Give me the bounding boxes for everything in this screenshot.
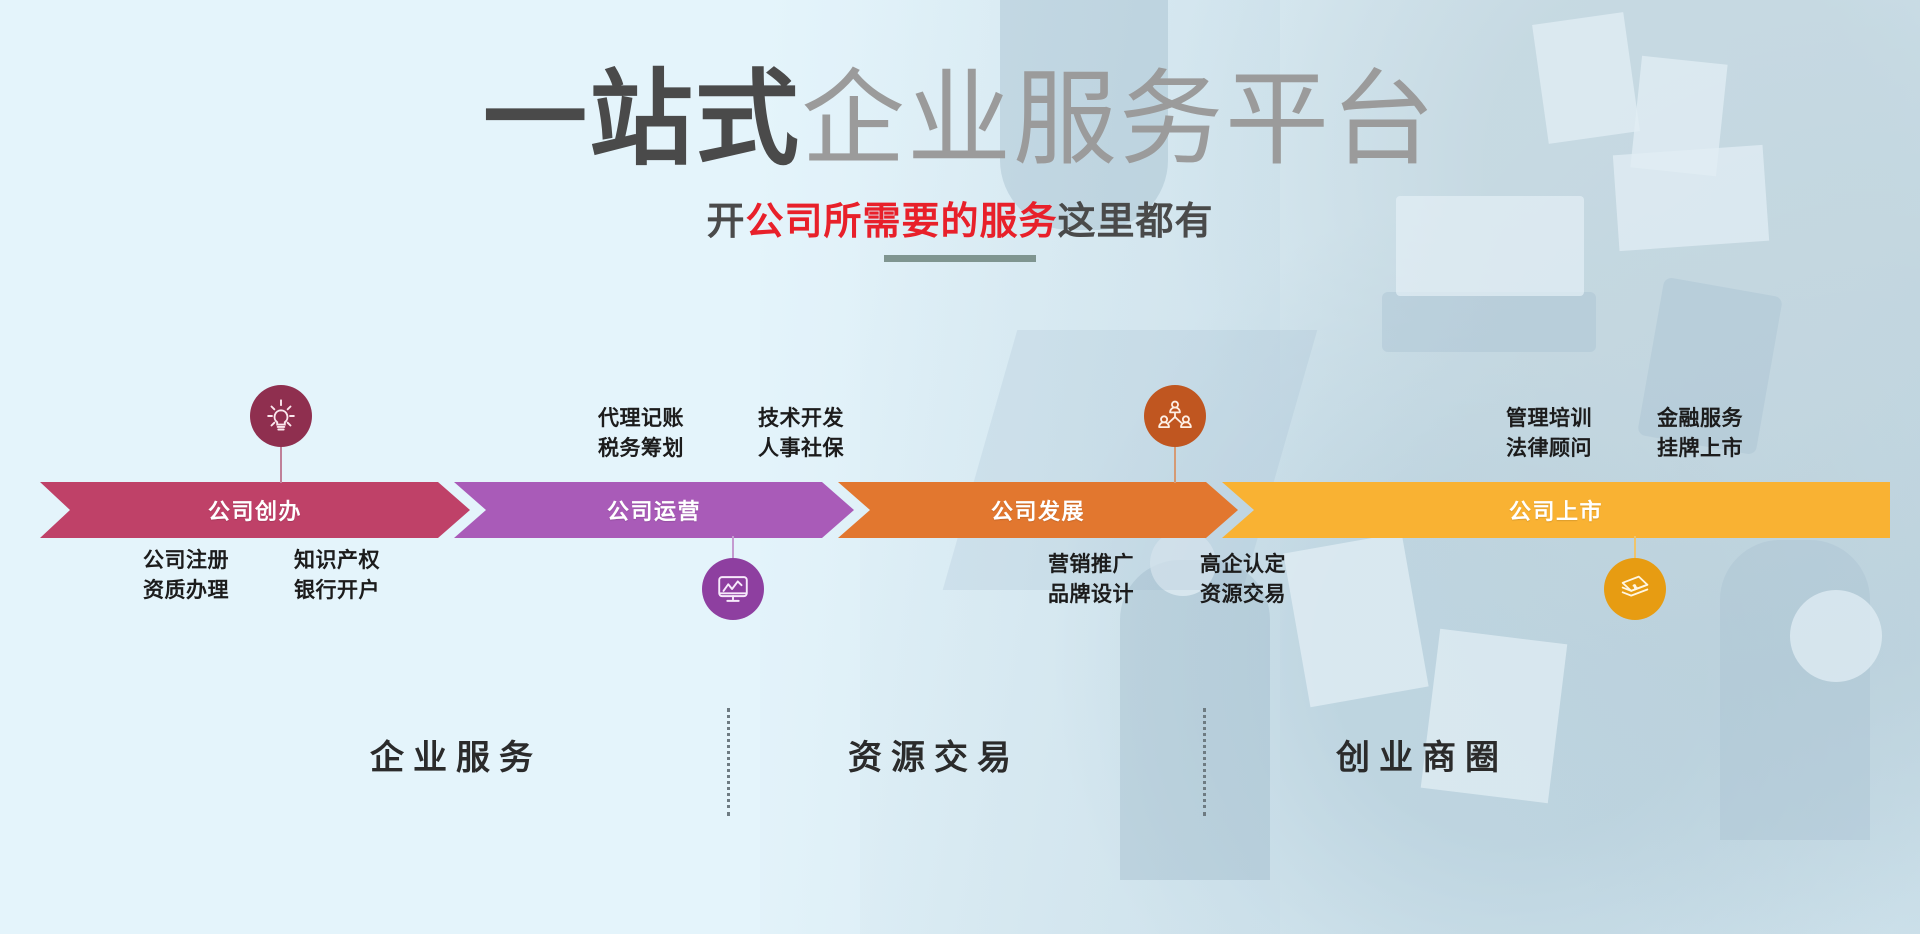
category-item-1[interactable]: 企业服务 [370, 730, 542, 779]
stage-3-keywords-b: 高企认定 资源交易 [1200, 550, 1286, 610]
timeline-stage-3[interactable]: 公司发展 [838, 482, 1238, 538]
poster-canvas: 一站式企业服务平台 开公司所需要的服务这里都有 公司创办 公司运营 公司发展 公… [0, 0, 1920, 934]
category-divider-2 [1203, 708, 1206, 816]
stage-2-icon-node[interactable] [702, 558, 764, 620]
stage-1-icon-node[interactable] [250, 385, 312, 447]
keyword-line: 技术开发 [758, 404, 844, 434]
page-subtitle-accent: 公司所需要的服务 [745, 201, 1057, 243]
timeline-stage-4[interactable]: 公司上市 [1222, 482, 1890, 538]
keyword-line: 公司注册 [143, 546, 229, 576]
stage-1-keywords-b: 知识产权 银行开户 [294, 546, 380, 606]
timeline-stage-2[interactable]: 公司运营 [454, 482, 854, 538]
decor-cup-1 [1790, 590, 1882, 682]
page-subtitle-suffix: 这里都有 [1058, 201, 1214, 243]
lightbulb-icon[interactable] [250, 385, 312, 447]
keyword-line: 品牌设计 [1048, 580, 1134, 610]
timeline-stage-4-label: 公司上市 [1509, 494, 1603, 526]
timeline-stage-3-label: 公司发展 [991, 494, 1085, 526]
keyword-line: 资质办理 [143, 576, 229, 606]
stage-1-icon-stem [280, 447, 282, 483]
stage-3-icon-stem [1174, 447, 1176, 483]
stage-4-keywords-b: 金融服务 挂牌上市 [1657, 404, 1743, 464]
stage-4-keywords-a: 管理培训 法律顾问 [1506, 404, 1592, 464]
category-item-2[interactable]: 资源交易 [848, 730, 1020, 779]
stage-2-keywords-b: 技术开发 人事社保 [758, 404, 844, 464]
keyword-line: 高企认定 [1200, 550, 1286, 580]
timeline-stage-1[interactable]: 公司创办 [40, 482, 470, 538]
stage-3-keywords-a: 营销推广 品牌设计 [1048, 550, 1134, 610]
keyword-line: 金融服务 [1657, 404, 1743, 434]
keyword-line: 知识产权 [294, 546, 380, 576]
timeline-stage-1-label: 公司创办 [208, 494, 302, 526]
decor-laptop-base [1382, 292, 1596, 352]
title-underline-rule [884, 255, 1036, 262]
stage-4-icon-stem [1634, 536, 1636, 558]
keyword-line: 人事社保 [758, 434, 844, 464]
keyword-line: 挂牌上市 [1657, 434, 1743, 464]
banknotes-icon[interactable] [1604, 558, 1666, 620]
stage-1-keywords-a: 公司注册 资质办理 [143, 546, 229, 606]
stage-4-icon-node[interactable] [1604, 558, 1666, 620]
keyword-line: 资源交易 [1200, 580, 1286, 610]
keyword-line: 法律顾问 [1506, 434, 1592, 464]
page-subtitle: 开公司所需要的服务这里都有 [0, 190, 1920, 245]
keyword-line: 营销推广 [1048, 550, 1134, 580]
page-title-light: 企业服务平台 [801, 62, 1437, 178]
stage-2-keywords-a: 代理记账 税务筹划 [598, 404, 684, 464]
stage-2-icon-stem [732, 536, 734, 558]
keyword-line: 代理记账 [598, 404, 684, 434]
keyword-line: 管理培训 [1506, 404, 1592, 434]
category-divider-1 [727, 708, 730, 816]
monitor-chart-icon[interactable] [702, 558, 764, 620]
keyword-line: 税务筹划 [598, 434, 684, 464]
page-title-strong: 一站式 [483, 62, 801, 178]
keyword-line: 银行开户 [294, 576, 380, 606]
stage-3-icon-node[interactable] [1144, 385, 1206, 447]
people-network-icon[interactable] [1144, 385, 1206, 447]
process-timeline: 公司创办 公司运营 公司发展 公司上市 [40, 482, 1890, 538]
page-title: 一站式企业服务平台 [0, 62, 1920, 178]
category-row: 企业服务 资源交易 创业商圈 [0, 730, 1920, 800]
timeline-stage-2-label: 公司运营 [607, 494, 701, 526]
category-item-3[interactable]: 创业商圈 [1336, 730, 1508, 779]
page-subtitle-prefix: 开 [706, 201, 745, 243]
